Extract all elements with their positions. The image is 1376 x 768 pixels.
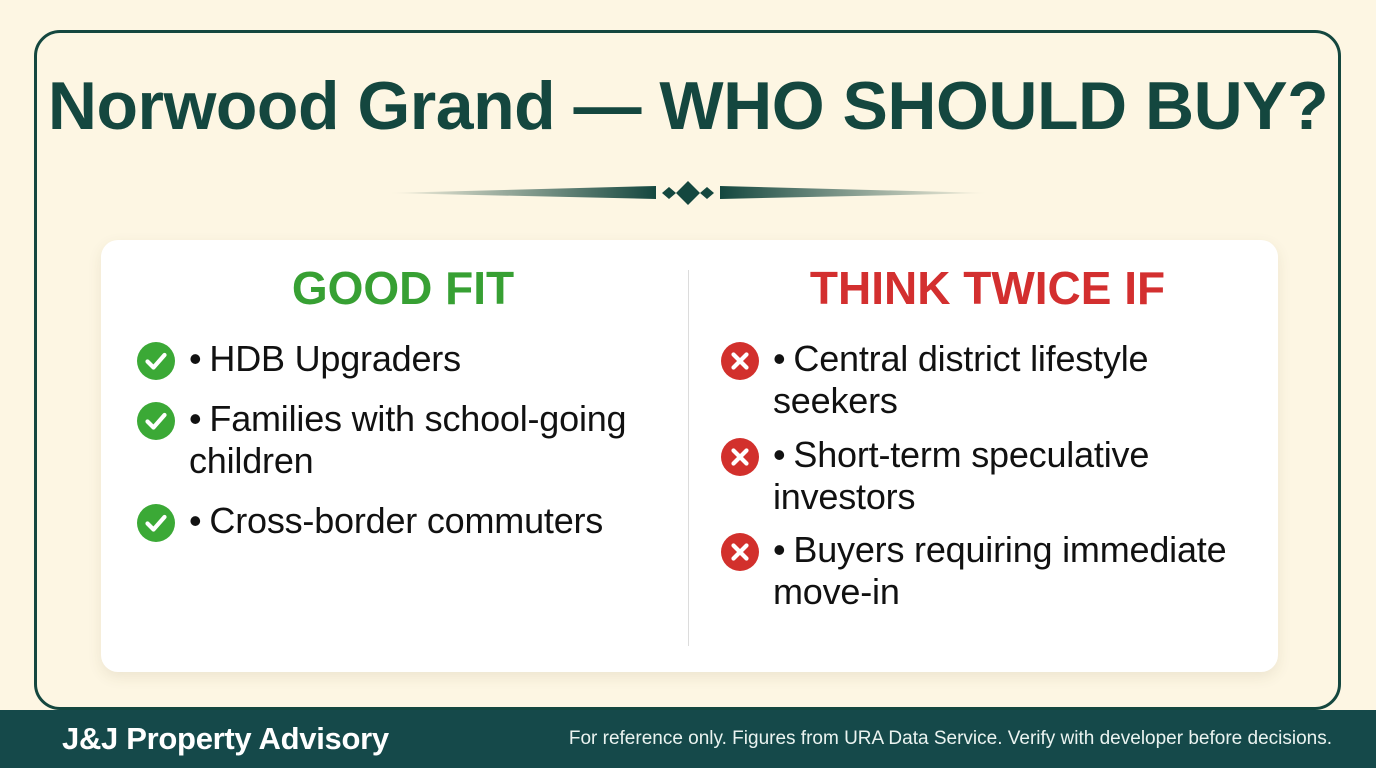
comparison-card: GOOD FIT •HDB Upgraders •Families with s… (101, 240, 1278, 672)
bullet-glyph: • (773, 529, 785, 570)
think-twice-list: •Central district lifestyle seekers •Sho… (721, 338, 1254, 613)
list-item-label: Families with school-going children (189, 398, 626, 481)
x-circle-icon (721, 342, 759, 380)
check-circle-icon (137, 402, 175, 440)
list-item-text: •Cross-border commuters (189, 500, 603, 542)
list-item: •Families with school-going children (137, 398, 669, 482)
list-item: •Buyers requiring immediate move-in (721, 529, 1254, 613)
list-item-label: Short-term speculative investors (773, 434, 1149, 517)
list-item-text: •Central district lifestyle seekers (773, 338, 1254, 422)
column-heading-good-fit: GOOD FIT (137, 264, 669, 312)
bullet-glyph: • (773, 338, 785, 379)
good-fit-list: •HDB Upgraders •Families with school-goi… (137, 338, 669, 542)
bullet-glyph: • (189, 338, 201, 379)
list-item-text: •Families with school-going children (189, 398, 669, 482)
column-divider (688, 270, 689, 646)
list-item-label: Central district lifestyle seekers (773, 338, 1148, 421)
list-item: •Short-term speculative investors (721, 434, 1254, 518)
list-item-label: Buyers requiring immediate move-in (773, 529, 1226, 612)
check-circle-icon (137, 342, 175, 380)
list-item: •HDB Upgraders (137, 338, 669, 380)
list-item-text: •Buyers requiring immediate move-in (773, 529, 1254, 613)
brand-name: J&J Property Advisory (62, 721, 389, 757)
column-heading-think-twice-if: THINK TWICE IF (721, 264, 1254, 312)
x-circle-icon (721, 438, 759, 476)
list-item-label: HDB Upgraders (209, 338, 461, 379)
list-item-text: •HDB Upgraders (189, 338, 461, 380)
column-good-fit: GOOD FIT •HDB Upgraders •Families with s… (101, 240, 689, 672)
bullet-glyph: • (773, 434, 785, 475)
x-circle-icon (721, 533, 759, 571)
footer-bar: J&J Property Advisory For reference only… (0, 710, 1376, 768)
disclaimer-text: For reference only. Figures from URA Dat… (569, 728, 1332, 750)
list-item: •Central district lifestyle seekers (721, 338, 1254, 422)
column-think-twice-if: THINK TWICE IF •Central district lifesty… (689, 240, 1278, 672)
check-circle-icon (137, 504, 175, 542)
page-title: Norwood Grand — WHO SHOULD BUY? (0, 72, 1376, 140)
list-item-text: •Short-term speculative investors (773, 434, 1254, 518)
list-item: •Cross-border commuters (137, 500, 669, 542)
bullet-glyph: • (189, 500, 201, 541)
diamond-divider-ornament (388, 176, 988, 210)
bullet-glyph: • (189, 398, 201, 439)
list-item-label: Cross-border commuters (209, 500, 603, 541)
